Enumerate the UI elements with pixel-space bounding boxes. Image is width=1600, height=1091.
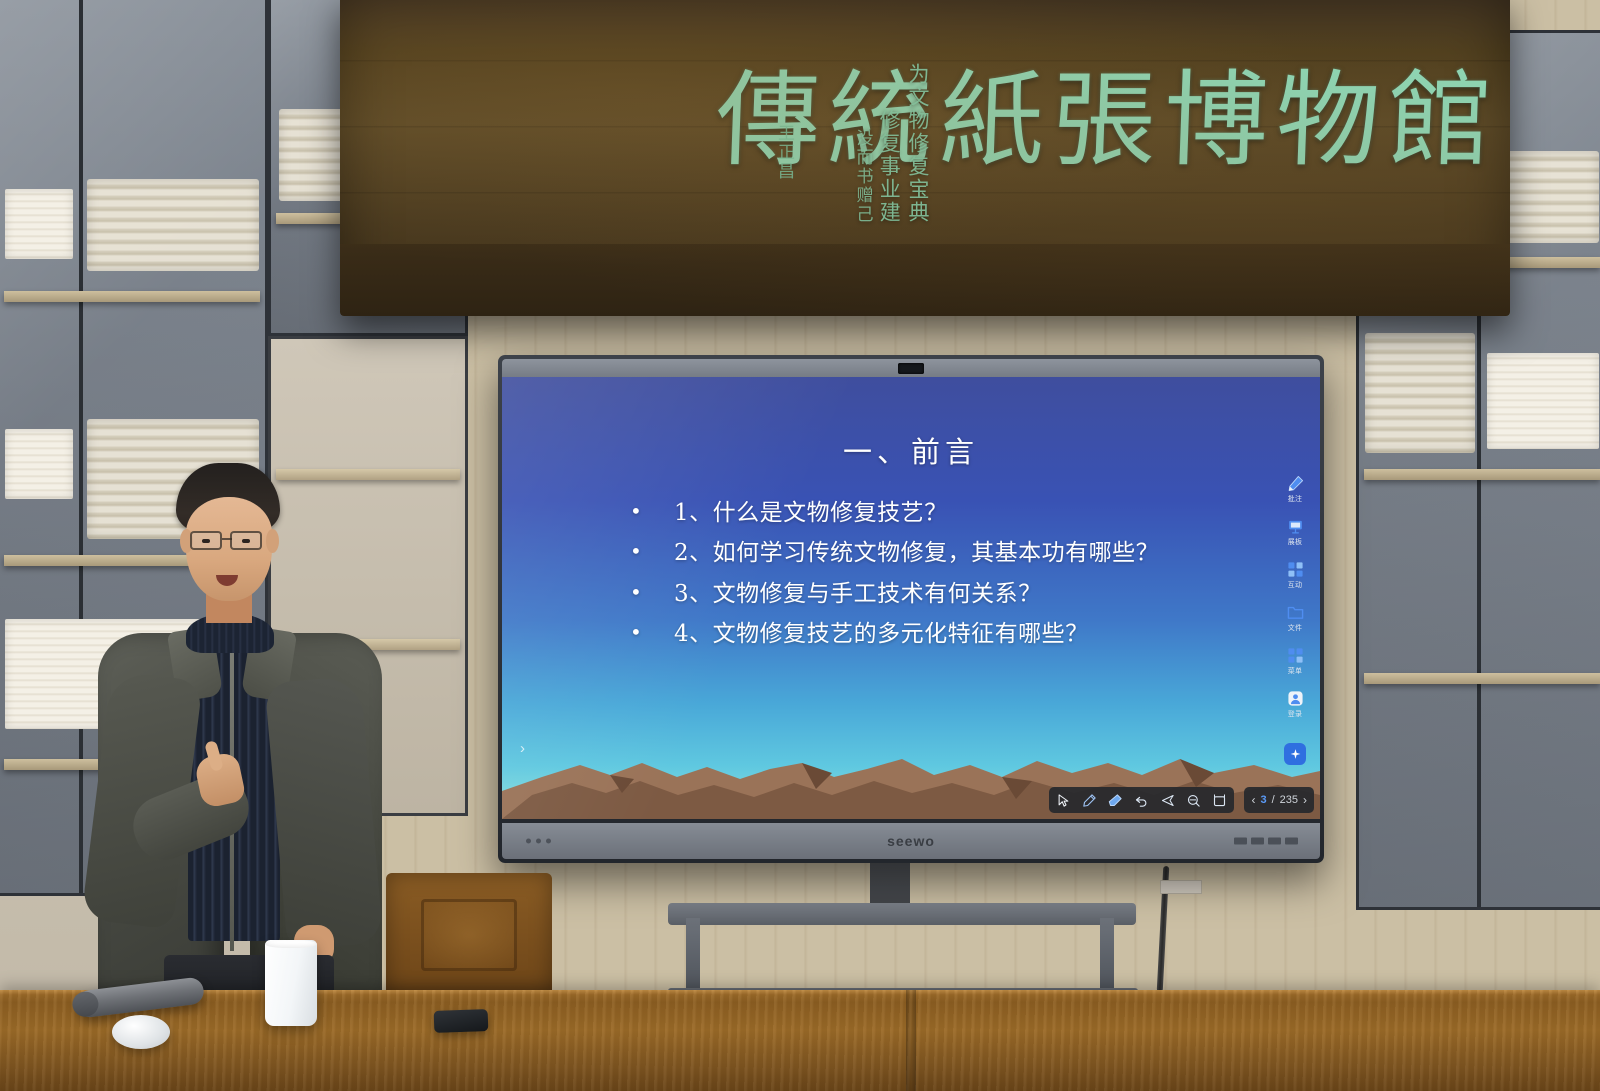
wall-socket-plate — [1160, 880, 1202, 894]
paper-stack — [1487, 353, 1599, 449]
panel-screen[interactable]: 一、前言 • 1、什么是文物修复技艺？ • 2、如何学习传统文物修复，其基本功有… — [502, 377, 1320, 819]
slide-bullet-list: • 1、什么是文物修复技艺？ • 2、如何学习传统文物修复，其基本功有哪些？ •… — [630, 495, 1215, 656]
list-item: • 3、文物修复与手工技术有何关系？ — [630, 576, 1215, 613]
board-icon[interactable] — [1287, 518, 1304, 535]
select-tool-icon[interactable] — [1056, 793, 1071, 808]
wooden-chair — [386, 873, 552, 995]
seewo-interactive-panel: 一、前言 • 1、什么是文物修复技艺？ • 2、如何学习传统文物修复，其基本功有… — [498, 355, 1324, 863]
rail-label-interact: 互动 — [1288, 580, 1303, 590]
bullet-text: 1、什么是文物修复技艺？ — [652, 495, 1215, 532]
rail-item-files[interactable]: 文件 — [1275, 604, 1315, 633]
seewo-brand-logo: seewo — [887, 833, 935, 849]
pager-separator: / — [1272, 794, 1275, 806]
port — [1268, 838, 1281, 845]
cabinet-shelf — [1364, 673, 1600, 684]
table-seam — [906, 990, 916, 1091]
inscription-line-3: 没而书赠己 — [852, 54, 872, 224]
panel-top-bezel — [502, 359, 1320, 377]
eye-left — [202, 539, 210, 543]
rail-label-files: 文件 — [1288, 623, 1303, 633]
panel-stand-crossbar — [668, 903, 1136, 925]
paper-rolls — [87, 179, 259, 271]
port — [1234, 838, 1247, 845]
pager-current-page: 3 — [1260, 794, 1266, 806]
table-edge — [0, 990, 1600, 995]
panel-stand-leg — [1100, 918, 1114, 996]
rail-label-board: 展板 — [1288, 537, 1303, 547]
paper-rolls — [1365, 333, 1475, 453]
pencil-icon[interactable] — [1287, 475, 1304, 492]
plaque-main-text: 傳統紙張博物館 — [898, 50, 1503, 190]
pager-prev-button[interactable]: ‹ — [1251, 793, 1255, 807]
cabinet-shelf — [1364, 469, 1600, 480]
inscription-line-1: 为文物修复宝典 — [905, 54, 930, 224]
panel-bottom-bezel: seewo — [502, 823, 1320, 859]
list-item: • 1、什么是文物修复技艺？ — [630, 495, 1215, 532]
wooden-plaque: 傳統紙張博物館 为文物修复宝典 修复事业建 没而书赠己 王正昌 — [340, 0, 1510, 316]
undo-tool-icon[interactable] — [1134, 793, 1149, 808]
bullet-icon: • — [630, 576, 652, 608]
eye-right — [242, 539, 250, 543]
plaque-inscription: 为文物修复宝典 修复事业建 没而书赠己 — [810, 54, 930, 224]
port — [1285, 838, 1298, 845]
indicator-dot — [546, 839, 551, 844]
paper-stack — [5, 429, 73, 499]
rail-item-login[interactable]: 登录 — [1275, 690, 1315, 719]
list-item: • 2、如何学习传统文物修复，其基本功有哪些？ — [630, 535, 1215, 572]
magnifier-tool-icon[interactable] — [1186, 793, 1201, 808]
rail-item-menu[interactable]: 菜单 — [1275, 647, 1315, 676]
rail-item-annotate[interactable]: 批注 — [1275, 475, 1315, 504]
rail-label-login: 登录 — [1288, 709, 1303, 719]
slide-title: 一、前言 — [502, 429, 1320, 471]
folder-icon[interactable] — [1287, 604, 1304, 621]
scene-root: 傳統紙張博物館 为文物修复宝典 修复事业建 没而书赠己 王正昌 一、前言 • — [0, 0, 1600, 1091]
inscription-line-2: 修复事业建 — [876, 54, 901, 224]
plaque-bottom-frame — [340, 244, 1510, 316]
indicator-dot — [536, 839, 541, 844]
menu-grid-icon[interactable] — [1287, 647, 1304, 664]
pen-tool-icon[interactable] — [1082, 793, 1097, 808]
rail-label-menu: 菜单 — [1288, 666, 1303, 676]
smartphone[interactable] — [434, 1009, 489, 1033]
bullet-text: 2、如何学习传统文物修复，其基本功有哪些？ — [652, 535, 1215, 572]
plaque-seal-text: 王正昌 — [772, 124, 797, 181]
bullet-icon: • — [630, 616, 652, 648]
wooden-table — [0, 990, 1600, 1091]
bullet-icon: • — [630, 535, 652, 567]
eyeglasses-bridge — [222, 538, 232, 540]
bullet-text: 4、文物修复技艺的多元化特征有哪些？ — [652, 616, 1215, 653]
paper-stack — [5, 189, 73, 259]
paper-cup[interactable] — [265, 940, 317, 1026]
screenshot-tool-icon[interactable] — [1212, 793, 1227, 808]
sparkle-icon — [1289, 748, 1302, 761]
side-tool-rail[interactable]: 批注 展板 互 — [1275, 475, 1315, 765]
rail-label-annotate: 批注 — [1288, 494, 1303, 504]
list-item: • 4、文物修复技艺的多元化特征有哪些？ — [630, 616, 1215, 653]
rail-item-interact[interactable]: 互动 — [1275, 561, 1315, 590]
pager-next-button[interactable]: › — [1303, 793, 1307, 807]
chair-carving — [421, 899, 517, 971]
presentation-slide: 一、前言 • 1、什么是文物修复技艺？ • 2、如何学习传统文物修复，其基本功有… — [502, 377, 1320, 819]
panel-ports — [1234, 838, 1298, 845]
interact-icon[interactable] — [1287, 561, 1304, 578]
panel-indicator-lights — [526, 839, 551, 844]
indicator-dot — [526, 839, 531, 844]
login-account-icon[interactable] — [1287, 690, 1304, 707]
camera-icon — [898, 363, 924, 374]
ink-toolbar[interactable] — [1049, 787, 1234, 813]
cabinet-shelf — [4, 291, 260, 302]
assistant-fab-button[interactable] — [1284, 743, 1306, 765]
bullet-icon: • — [630, 495, 652, 527]
presenter-person — [80, 455, 410, 1015]
slide-pager[interactable]: ‹ 3 / 235 › — [1244, 787, 1314, 813]
port — [1251, 838, 1264, 845]
laser-tool-icon[interactable] — [1160, 793, 1175, 808]
pager-total-pages: 235 — [1280, 794, 1298, 806]
bullet-text: 3、文物修复与手工技术有何关系？ — [652, 576, 1215, 613]
panel-stand-leg — [686, 918, 700, 996]
eraser-tool-icon[interactable] — [1108, 793, 1123, 808]
cup-lid[interactable] — [112, 1015, 170, 1049]
slide-next-arrow[interactable]: › — [520, 740, 525, 757]
rail-item-board[interactable]: 展板 — [1275, 518, 1315, 547]
ear-right — [266, 529, 279, 553]
